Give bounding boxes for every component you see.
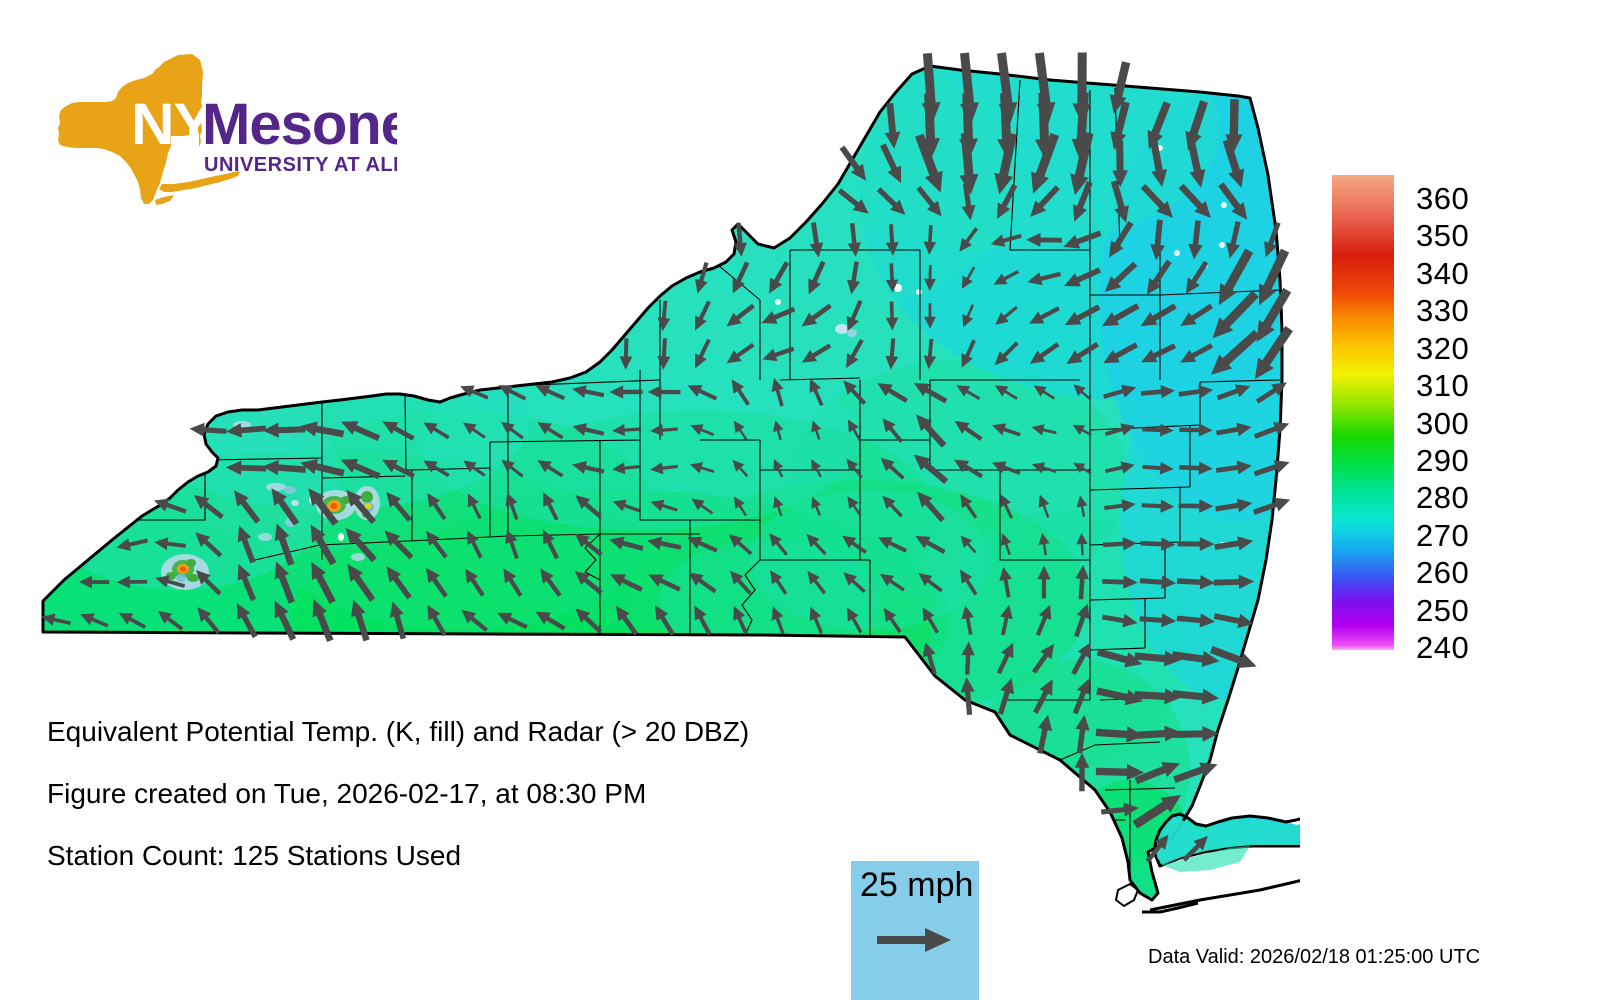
caption-block: Equivalent Potential Temp. (K, fill) and… — [47, 718, 927, 904]
colorbar-tick-360: 360 — [1416, 183, 1469, 214]
colorbar[interactable]: 360350340330320310300290280270260250240 — [1332, 175, 1582, 653]
colorbar-tick-270: 270 — [1416, 520, 1469, 551]
colorbar-tick-330: 330 — [1416, 295, 1469, 326]
wind-scale-label: 25 mph — [860, 866, 973, 904]
colorbar-tick-350: 350 — [1416, 220, 1469, 251]
colorbar-tick-280: 280 — [1416, 482, 1469, 513]
colorbar-tick-240: 240 — [1416, 632, 1469, 663]
colorbar-tick-250: 250 — [1416, 595, 1469, 626]
data-valid-timestamp: Data Valid: 2026/02/18 01:25:00 UTC — [1148, 946, 1480, 968]
colorbar-tick-260: 260 — [1416, 557, 1469, 588]
colorbar-tick-290: 290 — [1416, 445, 1469, 476]
colorbar-gradient-strip — [1332, 175, 1394, 650]
wind-scale-arrow-icon — [877, 925, 953, 955]
caption-station-count: Station Count: 125 Stations Used — [47, 842, 927, 870]
caption-created: Figure created on Tue, 2026-02-17, at 08… — [47, 780, 927, 808]
colorbar-tick-320: 320 — [1416, 333, 1469, 364]
colorbar-tick-300: 300 — [1416, 408, 1469, 439]
colorbar-tick-310: 310 — [1416, 370, 1469, 401]
wind-scale-legend: 25 mph — [851, 861, 979, 1000]
staten-island-outline — [1116, 884, 1138, 906]
colorbar-tick-340: 340 — [1416, 258, 1469, 289]
figure-root: NYS Mesonet UNIVERSITY AT ALBANY — [0, 0, 1600, 1000]
caption-title: Equivalent Potential Temp. (K, fill) and… — [47, 718, 927, 746]
colorbar-tick-labels: 360350340330320310300290280270260250240 — [1416, 175, 1576, 650]
